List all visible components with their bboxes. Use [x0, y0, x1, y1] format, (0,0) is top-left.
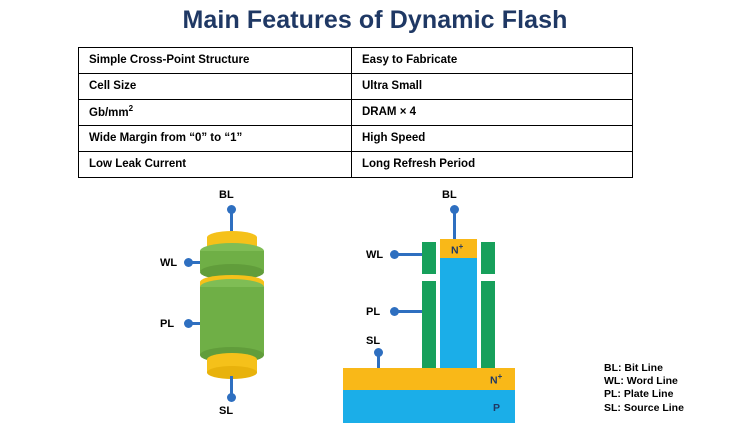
xsec-drain-nplus-text: N [451, 245, 459, 257]
xsec-wl-label: WL [366, 249, 383, 261]
features-table: Simple Cross-Point Structure Easy to Fab… [78, 47, 633, 178]
xsec-source-nplus-text: N [490, 375, 498, 387]
cross-section-diagram: BL N+ WL PL SL [330, 185, 750, 425]
table-row: Gb/mm2 DRAM × 4 [79, 100, 633, 126]
legend-item-bl: BL: Bit Line [604, 362, 684, 375]
xsec-wl-lead [398, 253, 422, 256]
table-row: Low Leak Current Long Refresh Period [79, 152, 633, 178]
legend: BL: Bit Line WL: Word Line PL: Plate Lin… [604, 362, 684, 415]
pillar-cell-diagram: BL WL PL [0, 185, 340, 425]
table-row: Cell Size Ultra Small [79, 74, 633, 100]
table-cell-value: Long Refresh Period [352, 152, 633, 178]
table-cell-value: DRAM × 4 [352, 100, 633, 126]
table-cell-value: High Speed [352, 126, 633, 152]
table-cell-feature: Gb/mm2 [79, 100, 352, 126]
xsec-source-nplus-label: N+ [490, 372, 502, 387]
table-cell-feature: Simple Cross-Point Structure [79, 48, 352, 74]
xsec-p-substrate-label: P [493, 402, 500, 414]
xsec-bl-lead [453, 212, 456, 239]
xsec-source-nplus-superscript: + [498, 372, 503, 381]
table-cell-feature: Wide Margin from “0” to “1” [79, 126, 352, 152]
xsec-p-substrate-layer [343, 390, 515, 423]
slide-canvas: Main Features of Dynamic Flash Simple Cr… [0, 0, 750, 425]
pillar-wl-label: WL [160, 257, 177, 269]
page-title: Main Features of Dynamic Flash [0, 6, 750, 35]
xsec-wl-gate-right [481, 242, 495, 274]
xsec-pl-label: PL [366, 306, 380, 318]
legend-item-wl: WL: Word Line [604, 375, 684, 388]
xsec-pl-gate-right [481, 281, 495, 368]
table-cell-feature: Low Leak Current [79, 152, 352, 178]
xsec-pl-gate-left [422, 281, 436, 368]
xsec-drain-nplus-label: N+ [451, 242, 463, 257]
pillar-bl-label: BL [219, 189, 234, 201]
xsec-sl-label: SL [366, 335, 380, 347]
xsec-drain-nplus-superscript: + [459, 242, 464, 251]
table-row: Simple Cross-Point Structure Easy to Fab… [79, 48, 633, 74]
xsec-pl-lead [398, 310, 422, 313]
pillar-pl-gate-body [200, 287, 264, 355]
pillar-sl-label: SL [219, 405, 233, 417]
pillar-sl-terminal-dot [227, 393, 236, 402]
table-cell-value: Ultra Small [352, 74, 633, 100]
table-row: Wide Margin from “0” to “1” High Speed [79, 126, 633, 152]
legend-item-sl: SL: Source Line [604, 402, 684, 415]
table-cell-feature: Cell Size [79, 74, 352, 100]
xsec-wl-gate-left [422, 242, 436, 274]
table-cell-feature-text: Gb/mm [89, 107, 129, 119]
xsec-silicon-pillar [440, 258, 477, 368]
table-cell-feature-superscript: 2 [129, 104, 133, 113]
xsec-bl-label: BL [442, 189, 457, 201]
legend-item-pl: PL: Plate Line [604, 388, 684, 401]
table-cell-value: Easy to Fabricate [352, 48, 633, 74]
pillar-pl-label: PL [160, 318, 174, 330]
